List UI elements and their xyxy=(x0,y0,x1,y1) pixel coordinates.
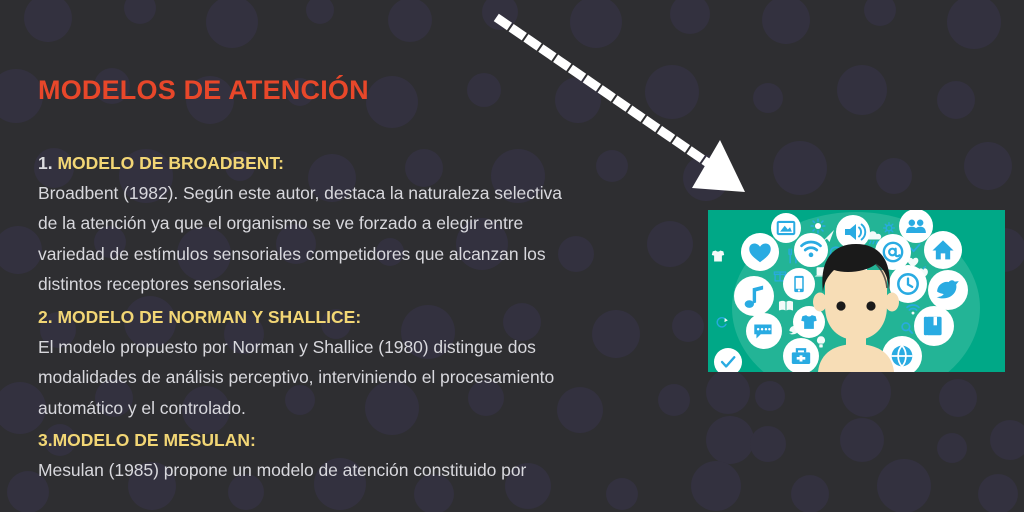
section-number-2: 2. xyxy=(38,307,53,327)
body-line: El modelo propuesto por Norman y Shallic… xyxy=(38,332,688,363)
body-line: automático y el controlado. xyxy=(38,393,688,424)
ear-right xyxy=(885,293,899,312)
attention-overload-illustration xyxy=(708,210,1005,372)
section-heading-2: 2. MODELO DE NORMAN Y SHALLICE: xyxy=(38,302,688,332)
body-line: Mesulan (1985) propone un modelo de aten… xyxy=(38,455,688,486)
section-number-3: 3. xyxy=(38,430,53,450)
section-heading-1: 1. MODELO DE BROADBENT: xyxy=(38,148,688,178)
section-body-1: Broadbent (1982). Según este autor, dest… xyxy=(38,178,688,300)
body-line: de la atención ya que el organismo se ve… xyxy=(38,208,688,239)
section-heading-3: 3.MODELO DE MESULAN: xyxy=(38,425,688,455)
slide-canvas: MODELOS DE ATENCIÓN 1. MODELO DE BROADBE… xyxy=(0,0,1024,512)
body-line: modalidades de análisis perceptivo, inte… xyxy=(38,362,688,393)
eye-right xyxy=(866,301,875,310)
section-number-1: 1. xyxy=(38,153,53,173)
section-norman-shallice: 2. MODELO DE NORMAN Y SHALLICE: El model… xyxy=(38,302,688,424)
body-line: Broadbent (1982). Según este autor, dest… xyxy=(38,178,688,209)
section-title-1: MODELO DE BROADBENT: xyxy=(57,153,284,173)
text-column: MODELOS DE ATENCIÓN 1. MODELO DE BROADBE… xyxy=(38,76,688,488)
body-line: variedad de estímulos sensoriales compet… xyxy=(38,239,688,270)
section-title-3: MODELO DE MESULAN: xyxy=(53,430,256,450)
eye-left xyxy=(836,301,845,310)
section-broadbent: 1. MODELO DE BROADBENT: Broadbent (1982)… xyxy=(38,148,688,300)
face xyxy=(825,270,887,340)
section-mesulan: 3.MODELO DE MESULAN: Mesulan (1985) prop… xyxy=(38,425,688,486)
ear-left xyxy=(813,293,827,312)
body-line: distintos receptores sensoriales. xyxy=(38,269,688,300)
section-body-2: El modelo propuesto por Norman y Shallic… xyxy=(38,332,688,424)
section-title-2: MODELO DE NORMAN Y SHALLICE: xyxy=(57,307,361,327)
page-title: MODELOS DE ATENCIÓN xyxy=(38,76,688,106)
section-body-3: Mesulan (1985) propone un modelo de aten… xyxy=(38,455,688,486)
